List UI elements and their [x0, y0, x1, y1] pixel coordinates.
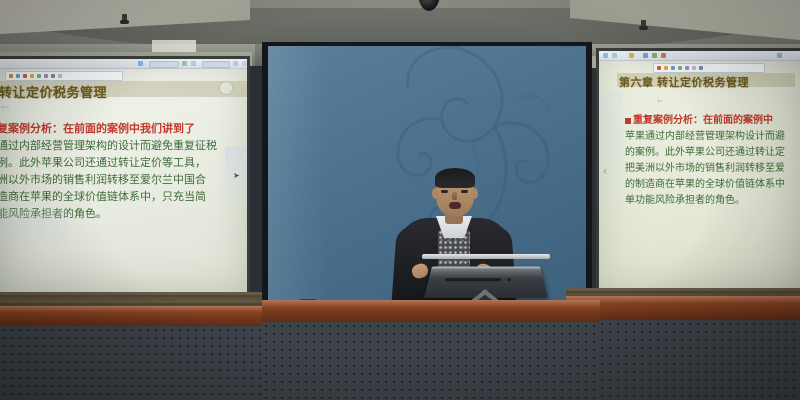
left-screen-surface: 转让定价税务管理 ᐞᐟᐟ 复案例分析：在前面的案例中我们讲到了 通过内部经营管理…: [0, 59, 247, 293]
prev-page-icon[interactable]: [191, 61, 196, 66]
handwriting-scribble: ᐞᐟᐟ: [1, 105, 9, 112]
desk-gloss-right: [566, 296, 800, 303]
right-screen-ink-toolbar[interactable]: [653, 63, 765, 73]
eye-left: [441, 190, 448, 193]
eyebrow-right: [460, 185, 469, 187]
left-slide-line-1-red: 复案例分析：在前面的案例中我们讲到了: [0, 123, 195, 135]
left-slide-line-5: 造商在苹果的全球价值链体系中，只充当简: [0, 189, 217, 206]
select-icon[interactable]: [51, 74, 55, 78]
desk-top-center: [262, 300, 600, 322]
pen-icon[interactable]: [9, 74, 13, 78]
right-projection-screen: 第六章 转让定价税务管理 ᐞᐟ ‹ 重复案例分析：在前面的案例中 苹果通过内部经…: [596, 48, 800, 294]
save-icon[interactable]: [643, 53, 648, 58]
desk-front-center: [262, 322, 600, 400]
page-value-field[interactable]: [202, 61, 230, 68]
left-slide-line-4: 洲以外市场的销售利润转移至爱尔兰中国合: [0, 172, 217, 189]
right-slide-line-3: 把美洲以外市场的销售利润转移至爱: [625, 161, 785, 177]
handwriting-scribble: ᐞᐟ: [657, 99, 663, 106]
pen-icon[interactable]: [657, 66, 661, 70]
monitor-port: [507, 278, 511, 281]
chevron-down-icon[interactable]: [182, 61, 187, 66]
zoom-icon[interactable]: [138, 61, 143, 66]
zoom-value-field[interactable]: [149, 61, 179, 68]
print-icon[interactable]: [652, 53, 657, 58]
left-screen-glare-2: [0, 209, 67, 249]
line-icon[interactable]: [685, 66, 689, 70]
search-icon[interactable]: [777, 53, 782, 58]
eraser-icon[interactable]: [44, 74, 48, 78]
next-page-icon[interactable]: [233, 61, 238, 66]
more-tools-icon[interactable]: [58, 74, 62, 78]
left-slide-line-3: 例。此外苹果公司还通过转让定价等工具，: [0, 155, 217, 172]
red-bullet-icon: [625, 118, 631, 124]
ear-right: [472, 188, 478, 199]
ceiling-spotlight-icon: [122, 14, 127, 23]
left-slide-page-badge[interactable]: [219, 81, 233, 95]
desk-gloss-center: [262, 300, 600, 308]
marker-icon[interactable]: [23, 74, 27, 78]
marker-icon[interactable]: [671, 66, 675, 70]
eyebrow-left: [441, 185, 450, 187]
settings-icon[interactable]: [661, 53, 666, 58]
desk-gloss-left: [0, 306, 268, 312]
left-screen-ink-toolbar[interactable]: [5, 71, 123, 81]
desk-front-left: [0, 326, 268, 400]
monitor-vent: [445, 278, 501, 281]
right-screen-glare: [599, 91, 621, 211]
forward-icon[interactable]: [612, 53, 617, 58]
highlighter-icon[interactable]: [16, 74, 20, 78]
right-slide-line-5: 单功能风险承担者的角色。: [625, 193, 785, 209]
right-slide-line-1: 苹果通过内部经营管理架构设计而避: [625, 129, 785, 145]
nose: [452, 192, 457, 200]
eraser-icon[interactable]: [692, 66, 696, 70]
left-screen-app-chrome: [0, 59, 247, 69]
desk-front-right: [566, 320, 800, 400]
line-icon[interactable]: [37, 74, 41, 78]
ceiling-spotlight-icon: [641, 20, 646, 29]
shape-icon[interactable]: [30, 74, 34, 78]
desk-top-left: [0, 306, 268, 326]
mouse-cursor-icon: ➤: [233, 171, 240, 180]
back-icon[interactable]: [603, 53, 608, 58]
left-slide-line-2: 通过内部经营管理架构的设计而避免重复征税: [0, 138, 217, 155]
right-screen-app-chrome: [599, 51, 800, 61]
left-slide-title: 转让定价税务管理: [0, 82, 107, 101]
monitor-bezel-top: [422, 254, 550, 259]
highlighter-icon[interactable]: [664, 66, 668, 70]
select-icon[interactable]: [699, 66, 703, 70]
right-slide-line-4: 的制造商在苹果的全球价值链体系中: [625, 177, 785, 193]
left-projection-screen: 转让定价税务管理 ᐞᐟᐟ 复案例分析：在前面的案例中我们讲到了 通过内部经营管理…: [0, 56, 250, 296]
right-screen-surface: 第六章 转让定价税务管理 ᐞᐟ ‹ 重复案例分析：在前面的案例中 苹果通过内部经…: [599, 51, 800, 291]
right-slide-title: 第六章 转让定价税务管理: [619, 74, 749, 90]
right-slide-bullet-heading: 重复案例分析: [633, 115, 693, 126]
left-slide-body: 复案例分析：在前面的案例中我们讲到了 通过内部经营管理架构的设计而避免重复征税 …: [0, 121, 217, 223]
ear-left: [432, 188, 438, 199]
lecture-hall-photo: 转让定价税务管理 ᐞᐟᐟ 复案例分析：在前面的案例中我们讲到了 通过内部经营管理…: [0, 0, 800, 400]
desk-top-right: [566, 296, 800, 320]
left-slide-line-1: 复案例分析：在前面的案例中我们讲到了: [0, 121, 217, 138]
eye-right: [461, 190, 468, 193]
close-icon[interactable]: [242, 61, 247, 66]
mouth: [449, 202, 461, 209]
right-slide-body: 重复案例分析：在前面的案例中 苹果通过内部经营管理架构设计而避 的案例。此外苹果…: [625, 113, 785, 209]
shape-icon[interactable]: [678, 66, 682, 70]
folder-icon[interactable]: [629, 53, 634, 58]
right-slide-line-2: 的案例。此外苹果公司还通过转让定: [625, 145, 785, 161]
right-slide-heading-line: 重复案例分析：在前面的案例中: [625, 113, 785, 129]
right-slide-bullet-suffix: ：在前面的案例中: [693, 115, 773, 126]
